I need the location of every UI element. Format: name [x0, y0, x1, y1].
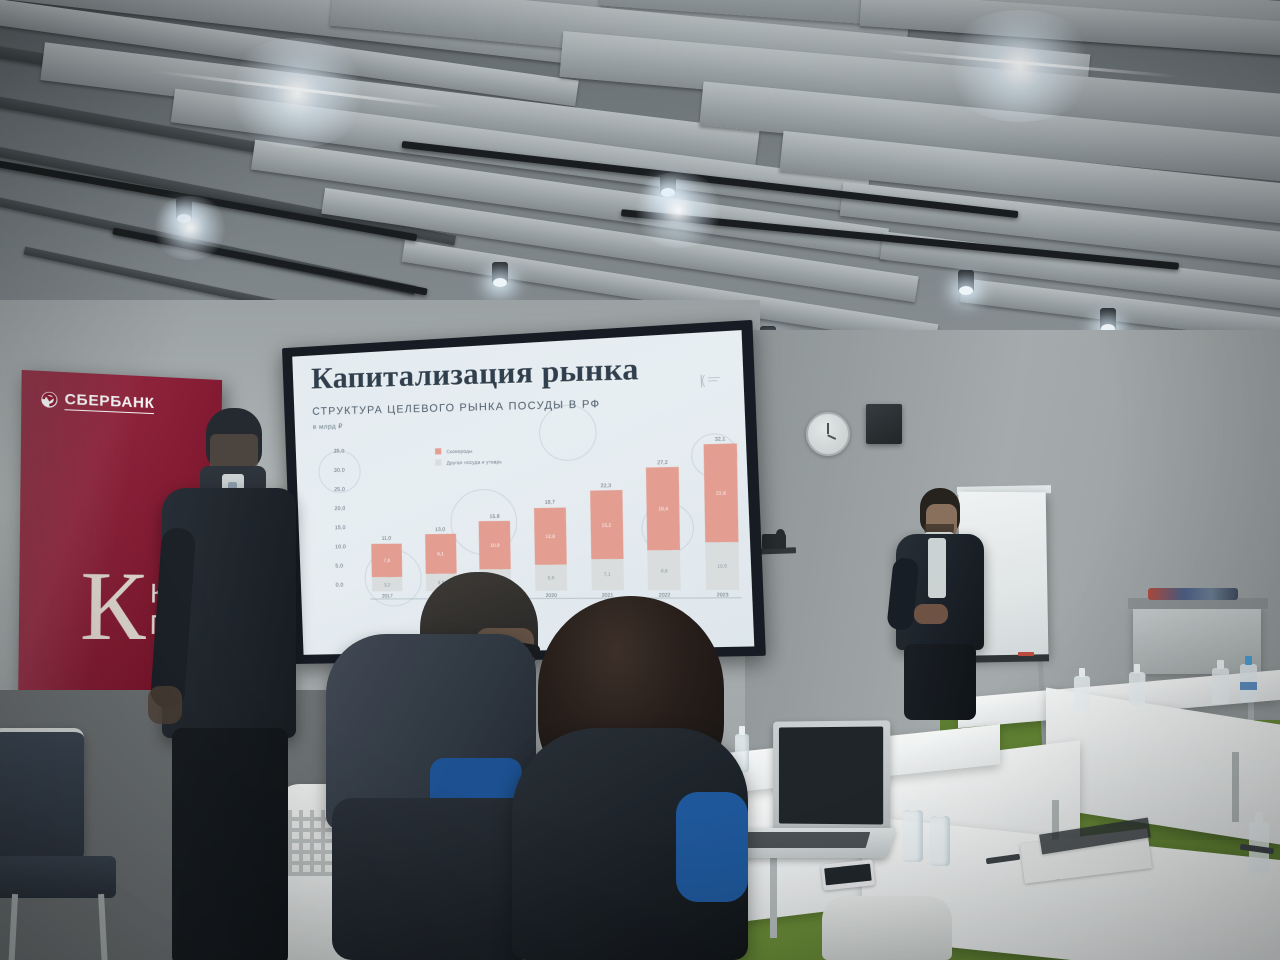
water-bottle[interactable] [1240, 656, 1257, 702]
bar-total-label: 32,1 [715, 436, 726, 443]
bar-total-label: 18,7 [545, 500, 555, 506]
bar-column: 27,218,48,82022 [646, 459, 681, 598]
bar-segment-primary: 15,2 [590, 490, 623, 558]
bar-column: 22,315,27,12021 [590, 483, 624, 599]
spotlight-icon [176, 198, 192, 220]
legs [904, 644, 976, 720]
water-bottle[interactable] [930, 806, 950, 866]
y-tick: 25,0 [334, 487, 345, 493]
camera-lens-icon [776, 529, 785, 539]
wall-clock [806, 412, 850, 456]
y-tick: 35,0 [334, 448, 345, 454]
bar-total-label: 22,3 [600, 483, 611, 489]
bar-segment-primary: 9,1 [425, 534, 457, 574]
water-bottle[interactable] [1249, 812, 1269, 874]
spotlight-icon [1100, 308, 1116, 330]
y-tick: 15,0 [335, 525, 346, 531]
slide-title: Капитализация рынка [311, 351, 725, 394]
flipchart-marker [1018, 652, 1034, 656]
bar-segment-primary: 21,6 [704, 444, 739, 543]
water-bottle[interactable] [1212, 660, 1229, 704]
attendee-standing-dark-suit [150, 408, 306, 960]
y-tick: 30,0 [334, 468, 345, 474]
sberbank-wordmark: СБЕРБАНК [64, 391, 154, 414]
bar-segment-primary: 12,8 [534, 507, 567, 564]
bar-total-label: 11,0 [382, 536, 392, 542]
y-tick: 5,0 [335, 563, 343, 569]
bar-stack: 15,27,1 [590, 490, 624, 590]
office-chair[interactable] [0, 728, 118, 960]
cabinet-items [1148, 588, 1238, 600]
water-bottle[interactable] [1074, 668, 1090, 710]
presenter-standing [888, 488, 994, 718]
water-bottle[interactable] [903, 800, 923, 862]
bar-total-label: 15,8 [489, 514, 499, 520]
bar-total-label: 27,2 [657, 460, 668, 467]
bar-segment-secondary: 7,1 [591, 559, 624, 591]
bar-segment-secondary: 10,5 [705, 542, 739, 590]
spotlight-icon [660, 172, 676, 194]
klub-pervyh-logo [697, 371, 726, 389]
ceiling-speaker [866, 404, 902, 444]
club-monogram: К [80, 568, 147, 645]
bar-stack: 18,48,8 [646, 467, 681, 590]
laptop-screen [779, 726, 883, 824]
attendee-seated-long-hair [486, 596, 752, 960]
bar-total-label: 13,0 [435, 527, 445, 533]
bar-stack: 21,610,5 [704, 444, 740, 590]
spotlight-icon [958, 270, 974, 292]
legs [172, 728, 288, 960]
light-track [112, 228, 427, 296]
hand [148, 686, 182, 724]
sberbank-logo-icon [40, 391, 58, 409]
chair[interactable] [822, 896, 952, 960]
spotlight-icon [492, 262, 508, 284]
meeting-room-photo: Капитализация рынка СТРУКТУРА ЦЕЛЕВОГО Р… [0, 0, 1280, 960]
bar-segment-primary: 18,4 [646, 467, 680, 550]
y-tick: 20,0 [334, 506, 345, 512]
water-bottle[interactable] [1129, 664, 1145, 706]
blue-sleeve [676, 792, 748, 902]
bar-segment-primary: 10,9 [479, 521, 511, 569]
smartphone[interactable] [821, 859, 875, 890]
y-tick: 10,0 [335, 544, 346, 550]
bar-segment-secondary: 8,8 [648, 550, 681, 590]
bar-column: 32,121,610,52023 [703, 436, 739, 599]
hands [914, 604, 948, 624]
